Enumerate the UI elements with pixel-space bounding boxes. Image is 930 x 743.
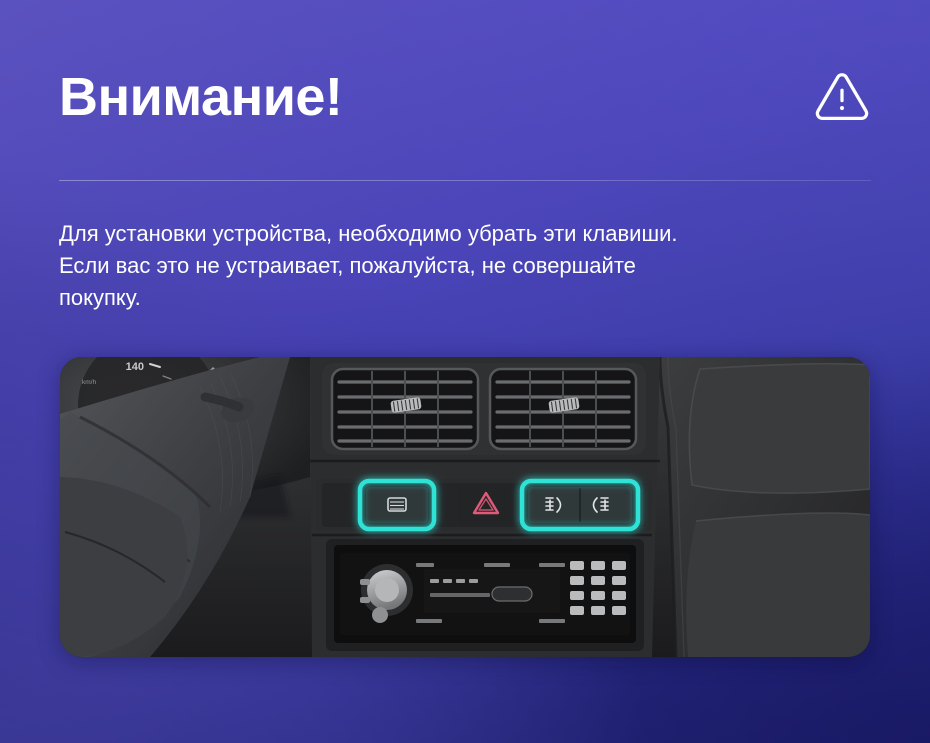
banner-header: Внимание! xyxy=(59,58,871,136)
air-vent-right xyxy=(490,369,636,449)
passenger-dash-pad xyxy=(660,357,870,657)
speedo-tick-140: 140 xyxy=(126,361,144,373)
fog-light-buttons[interactable] xyxy=(528,487,632,523)
body-line-1: Для установки устройства, необходимо убр… xyxy=(59,218,859,250)
rear-defroster-button[interactable] xyxy=(366,487,428,523)
body-copy: Для установки устройства, необходимо убр… xyxy=(59,218,859,314)
air-vent-left xyxy=(332,369,478,449)
body-line-2: Если вас это не устраивает, пожалуйста, … xyxy=(59,250,859,282)
dashboard-illustration: 140 160 180 200 km/h xyxy=(60,357,870,657)
warning-triangle-icon xyxy=(813,68,871,126)
hazard-button[interactable] xyxy=(458,485,514,525)
header-divider xyxy=(59,180,871,181)
warning-banner: Внимание! Для установки устройства, необ… xyxy=(0,0,930,743)
page-title: Внимание! xyxy=(59,70,342,124)
car-stereo xyxy=(340,553,630,635)
body-line-3: покупку. xyxy=(59,282,859,314)
speedo-unit-label: km/h xyxy=(82,379,96,386)
dashboard-photo: 140 160 180 200 km/h xyxy=(60,357,870,657)
center-console xyxy=(310,357,660,657)
